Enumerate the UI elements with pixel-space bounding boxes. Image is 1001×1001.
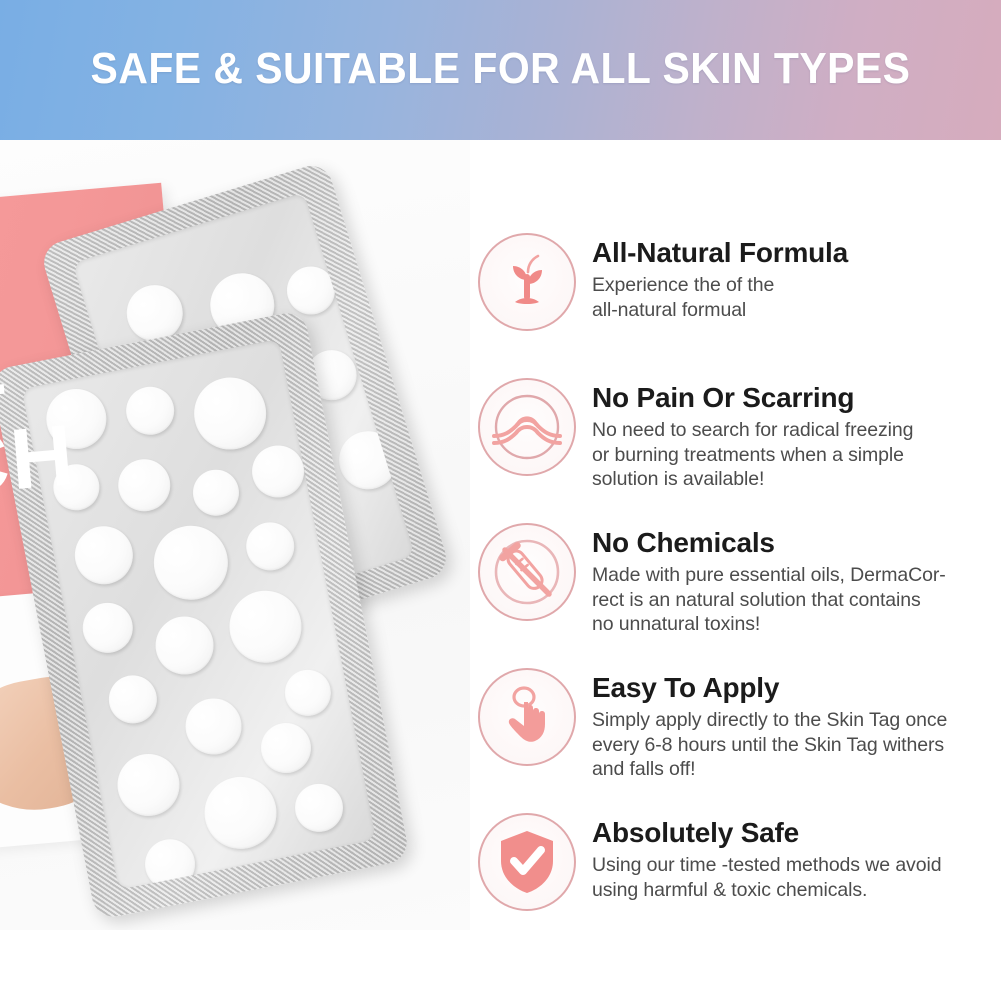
patch-dot — [242, 518, 298, 574]
feature-item-absolutely-safe: Absolutely Safe Using our time -tested m… — [470, 795, 1001, 927]
sprout-icon — [478, 233, 576, 331]
patch-dot — [198, 771, 282, 855]
feature-description: Simply apply directly to the Skin Tag on… — [592, 708, 1001, 782]
feature-description: Using our time -tested methods we avoid … — [592, 853, 1001, 902]
patch-dot — [78, 599, 137, 658]
shield-check-icon — [478, 813, 576, 911]
feature-title: All-Natural Formula — [592, 215, 1001, 270]
feature-item-no-pain-or-scarring: No Pain Or Scarring No need to search fo… — [470, 360, 1001, 492]
patch-dot — [332, 424, 404, 496]
feature-item-easy-to-apply: Easy To Apply Simply apply directly to t… — [470, 650, 1001, 782]
feature-item-all-natural-formula: All-Natural Formula Experience the of th… — [470, 215, 1001, 347]
patch-dot — [281, 666, 335, 720]
feature-item-no-chemicals: No Chemicals Made with pure essential oi… — [470, 505, 1001, 637]
patch-dot — [189, 466, 243, 520]
patch-dot — [281, 261, 341, 321]
patch-dot — [141, 835, 200, 890]
patch-dot — [223, 585, 307, 669]
header-banner: SAFE & SUITABLE FOR ALL SKIN TYPES — [0, 0, 1001, 140]
feature-description: No need to search for radical freezing o… — [592, 418, 1001, 492]
page-title: SAFE & SUITABLE FOR ALL SKIN TYPES — [35, 43, 966, 95]
feature-description: Experience the of the all-natural formua… — [592, 273, 1001, 322]
infographic-page: SAFE & SUITABLE FOR ALL SKIN TYPES — [0, 0, 1001, 1001]
patch-dot — [257, 719, 316, 778]
patch-dot — [181, 694, 247, 760]
patch-dot — [105, 671, 161, 727]
patch-dot — [147, 519, 234, 606]
feature-description: Made with pure essential oils, DermaCor-… — [592, 563, 1001, 637]
carton-brand-text: NETCH — [0, 303, 176, 519]
patch-dot — [248, 441, 309, 502]
product-photo: NETCH omote — [0, 140, 470, 930]
skin-bump-icon — [478, 378, 576, 476]
tap-hand-icon — [478, 668, 576, 766]
no-test-tube-icon — [478, 523, 576, 621]
feature-list: All-Natural Formula Experience the of th… — [470, 215, 1001, 927]
patch-dot — [151, 612, 219, 680]
carton-line-2: TCH — [0, 407, 79, 519]
patch-dot — [291, 780, 347, 836]
carton-line-1: NE — [0, 317, 12, 423]
feature-title: Easy To Apply — [592, 650, 1001, 705]
feature-title: Absolutely Safe — [592, 795, 1001, 850]
feature-title: No Pain Or Scarring — [592, 360, 1001, 415]
patch-dot — [188, 371, 272, 455]
patch-dot — [112, 749, 185, 822]
feature-title: No Chemicals — [592, 505, 1001, 560]
